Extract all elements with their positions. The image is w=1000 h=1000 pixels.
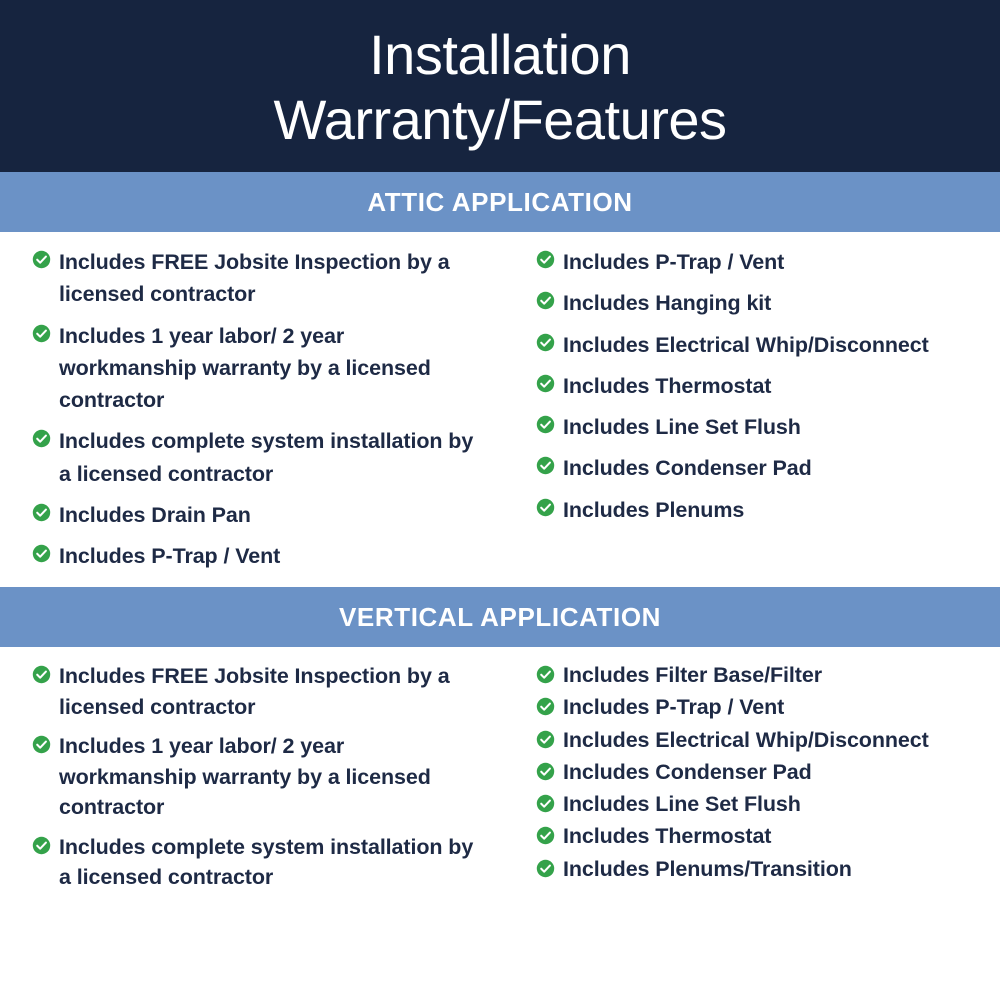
- list-item-label: Includes P-Trap / Vent: [563, 693, 784, 722]
- list-item-label: Includes Thermostat: [563, 822, 771, 851]
- check-circle-icon: [536, 498, 555, 517]
- list-item-label: Includes 1 year labor/ 2 year workmanshi…: [59, 731, 486, 823]
- list-item: Includes Thermostat: [536, 370, 986, 402]
- installation-warranty-features-page: Installation Warranty/Features ATTIC APP…: [0, 0, 1000, 1000]
- list-item-label: Includes Plenums: [563, 494, 744, 526]
- section-body-vertical: Includes FREE Jobsite Inspection by a li…: [0, 647, 1000, 908]
- page-header: Installation Warranty/Features: [0, 0, 1000, 172]
- list-item: Includes Condenser Pad: [536, 452, 986, 484]
- list-item-label: Includes Hanging kit: [563, 287, 771, 319]
- check-circle-icon: [536, 665, 555, 684]
- list-item-label: Includes Condenser Pad: [563, 452, 812, 484]
- check-circle-icon: [536, 826, 555, 845]
- list-item: Includes P-Trap / Vent: [536, 246, 986, 278]
- list-item-label: Includes complete system installation by…: [59, 425, 486, 490]
- list-item-label: Includes FREE Jobsite Inspection by a li…: [59, 246, 486, 311]
- check-circle-icon: [32, 503, 51, 522]
- list-item: Includes FREE Jobsite Inspection by a li…: [32, 246, 486, 311]
- check-circle-icon: [536, 762, 555, 781]
- section-band-vertical: VERTICAL APPLICATION: [0, 587, 1000, 647]
- list-item: Includes Line Set Flush: [536, 411, 986, 443]
- list-item: Includes P-Trap / Vent: [32, 540, 486, 572]
- list-item: Includes Electrical Whip/Disconnect: [536, 726, 986, 755]
- check-circle-icon: [536, 859, 555, 878]
- list-item: Includes P-Trap / Vent: [536, 693, 986, 722]
- check-circle-icon: [32, 429, 51, 448]
- list-item: Includes Drain Pan: [32, 499, 486, 531]
- list-item-label: Includes complete system installation by…: [59, 832, 486, 893]
- list-item: Includes Thermostat: [536, 822, 986, 851]
- section-body-attic: Includes FREE Jobsite Inspection by a li…: [0, 232, 1000, 587]
- check-circle-icon: [536, 333, 555, 352]
- list-item: Includes Condenser Pad: [536, 758, 986, 787]
- list-item-label: Includes Electrical Whip/Disconnect: [563, 329, 929, 361]
- list-item: Includes Filter Base/Filter: [536, 661, 986, 690]
- list-item: Includes Plenums: [536, 494, 986, 526]
- list-item: Includes Hanging kit: [536, 287, 986, 319]
- list-item: Includes 1 year labor/ 2 year workmanshi…: [32, 731, 486, 823]
- page-title: Installation Warranty/Features: [273, 23, 726, 153]
- list-item-label: Includes FREE Jobsite Inspection by a li…: [59, 661, 486, 722]
- list-item-label: Includes P-Trap / Vent: [59, 540, 280, 572]
- list-item-label: Includes Drain Pan: [59, 499, 251, 531]
- list-item: Includes 1 year labor/ 2 year workmanshi…: [32, 320, 486, 417]
- list-item-label: Includes Line Set Flush: [563, 790, 801, 819]
- list-item-label: Includes Filter Base/Filter: [563, 661, 822, 690]
- list-item-label: Includes P-Trap / Vent: [563, 246, 784, 278]
- check-circle-icon: [536, 291, 555, 310]
- check-circle-icon: [32, 735, 51, 754]
- check-circle-icon: [536, 794, 555, 813]
- section-band-attic: ATTIC APPLICATION: [0, 172, 1000, 232]
- list-item-label: Includes 1 year labor/ 2 year workmanshi…: [59, 320, 486, 417]
- attic-column-right: Includes P-Trap / Vent Includes Hanging …: [500, 246, 1000, 581]
- check-circle-icon: [536, 730, 555, 749]
- list-item-label: Includes Thermostat: [563, 370, 771, 402]
- check-circle-icon: [32, 836, 51, 855]
- list-item-label: Includes Condenser Pad: [563, 758, 812, 787]
- check-circle-icon: [536, 697, 555, 716]
- list-item: Includes complete system installation by…: [32, 425, 486, 490]
- attic-column-left: Includes FREE Jobsite Inspection by a li…: [0, 246, 500, 581]
- vertical-column-left: Includes FREE Jobsite Inspection by a li…: [0, 661, 500, 902]
- check-circle-icon: [32, 250, 51, 269]
- list-item: Includes Plenums/Transition: [536, 855, 986, 884]
- check-circle-icon: [32, 544, 51, 563]
- check-circle-icon: [536, 250, 555, 269]
- list-item-label: Includes Plenums/Transition: [563, 855, 852, 884]
- list-item: Includes Electrical Whip/Disconnect: [536, 329, 986, 361]
- check-circle-icon: [32, 665, 51, 684]
- section-title-vertical: VERTICAL APPLICATION: [339, 602, 661, 633]
- list-item: Includes complete system installation by…: [32, 832, 486, 893]
- check-circle-icon: [536, 374, 555, 393]
- list-item-label: Includes Line Set Flush: [563, 411, 801, 443]
- check-circle-icon: [32, 324, 51, 343]
- list-item-label: Includes Electrical Whip/Disconnect: [563, 726, 929, 755]
- list-item: Includes Line Set Flush: [536, 790, 986, 819]
- list-item: Includes FREE Jobsite Inspection by a li…: [32, 661, 486, 722]
- check-circle-icon: [536, 415, 555, 434]
- check-circle-icon: [536, 456, 555, 475]
- vertical-column-right: Includes Filter Base/Filter Includes P-T…: [500, 661, 1000, 902]
- section-title-attic: ATTIC APPLICATION: [367, 187, 632, 218]
